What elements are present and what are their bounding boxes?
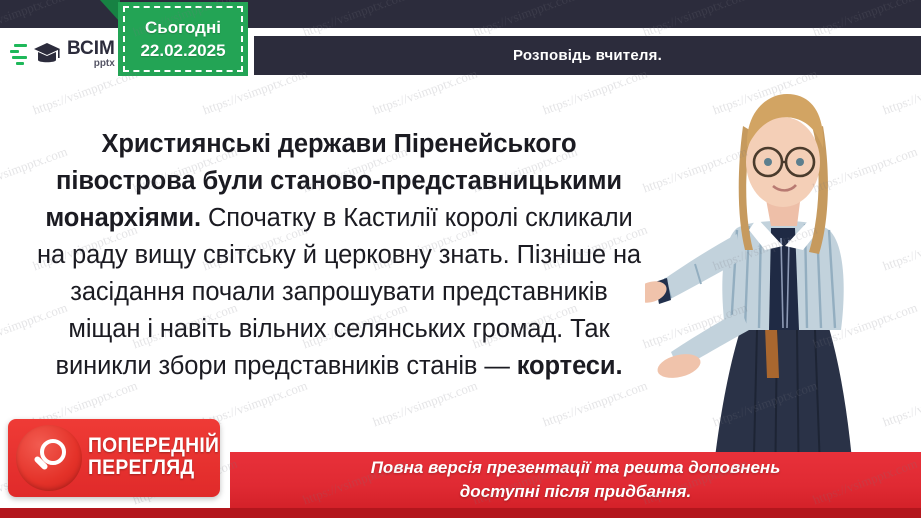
- bottom-dark-red-strip: [0, 508, 921, 518]
- preview-line-1: ПОПЕРЕДНІЙ: [88, 435, 219, 457]
- presentation-slide: ВСІМ pptx Сьогодні 22.02.2025 Розповідь …: [0, 0, 921, 518]
- slide-title: Розповідь вчителя.: [513, 47, 662, 64]
- logo-title: ВСІМ: [67, 39, 115, 58]
- teacher-photo: [645, 78, 913, 508]
- magnifier-icon: [16, 425, 82, 491]
- slide-header-bar: Розповідь вчителя.: [254, 36, 921, 75]
- logo-subtitle: pptx: [67, 59, 115, 69]
- body-bold-term: кортеси.: [517, 352, 623, 380]
- purchase-notice-banner: Повна версія презентації та решта доповн…: [230, 452, 921, 508]
- preview-badge: ПОПЕРЕДНІЙ ПЕРЕГЛЯД: [8, 419, 220, 497]
- banner-line-2: доступні після придбання.: [460, 480, 691, 504]
- date-badge-label: Сьогодні: [145, 18, 221, 38]
- preview-badge-text: ПОПЕРЕДНІЙ ПЕРЕГЛЯД: [88, 435, 231, 480]
- date-badge: Сьогодні 22.02.2025: [118, 2, 248, 76]
- speed-lines-icon: [10, 44, 27, 65]
- logo-text: ВСІМ pptx: [67, 39, 115, 69]
- preview-line-2: ПЕРЕГЛЯД: [88, 457, 219, 479]
- slide-body-text: Християнські держави Піренейського півос…: [34, 126, 644, 385]
- banner-line-1: Повна версія презентації та решта доповн…: [371, 456, 781, 480]
- date-badge-date: 22.02.2025: [140, 41, 225, 61]
- date-badge-fold: [100, 0, 120, 22]
- brand-logo[interactable]: ВСІМ pptx: [6, 30, 128, 78]
- graduation-cap-icon: [32, 38, 62, 70]
